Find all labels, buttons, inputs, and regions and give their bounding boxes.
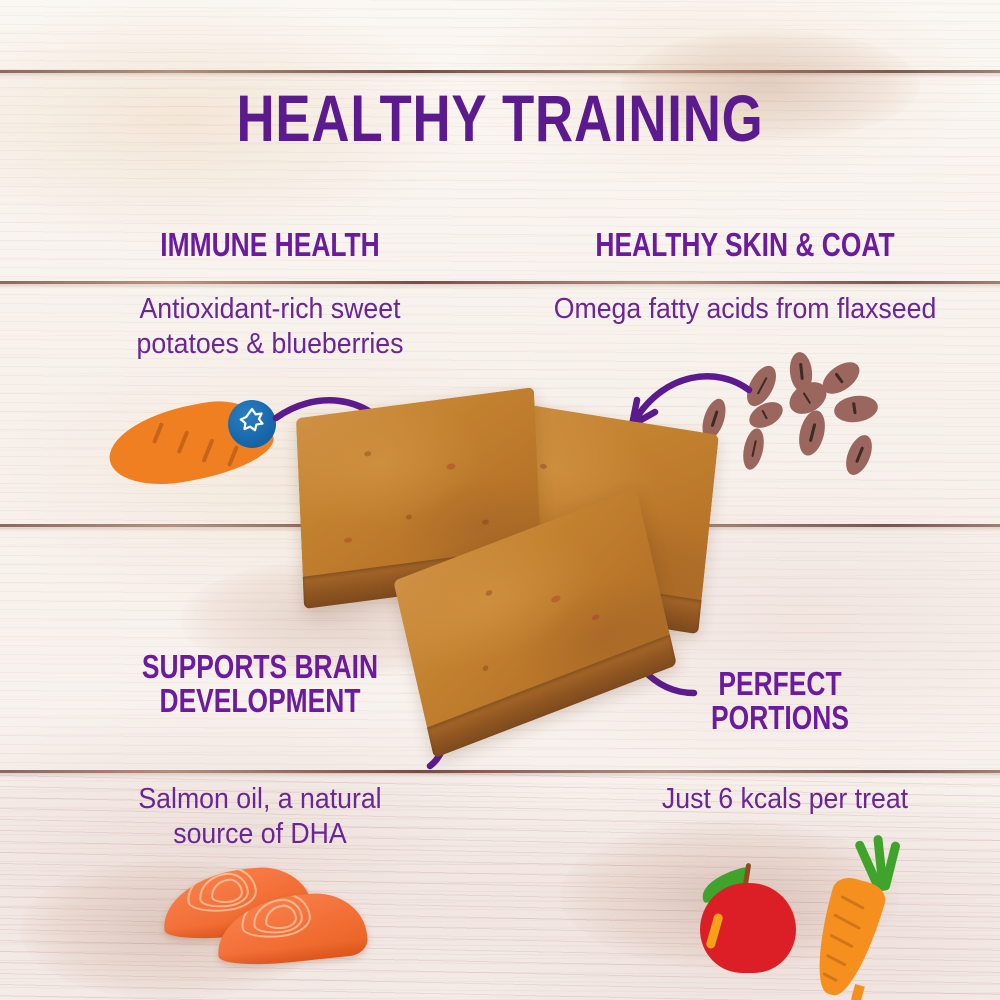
feature-heading-skin: HEALTHY SKIN & COAT <box>549 228 941 262</box>
salmon-fillet-icon <box>162 870 382 975</box>
feature-body-brain: Salmon oil, a natural source of DHA <box>44 782 476 853</box>
flaxseed <box>841 431 877 478</box>
apple-icon <box>692 855 804 975</box>
feature-heading-immune: IMMUNE HEALTH <box>86 228 454 262</box>
plank-seam-2 <box>0 281 1000 284</box>
feature-body-skin: Omega fatty acids from flaxseed <box>515 292 975 327</box>
feature-body-portions: Just 6 kcals per treat <box>587 782 983 817</box>
feature-body-brain-line2: source of DHA <box>44 817 476 852</box>
feature-body-brain-line1: Salmon oil, a natural <box>44 782 476 817</box>
feature-heading-brain-line1: SUPPORTS BRAIN <box>76 650 444 684</box>
page-title: HEALTHY TRAINING <box>100 86 900 151</box>
blueberry-icon <box>228 400 276 448</box>
feature-body-immune-line2: potatoes & blueberries <box>49 327 491 362</box>
feature-body-immune-line1: Antioxidant-rich sweet <box>49 292 491 327</box>
feature-heading-portions-line2: PORTIONS <box>648 701 912 735</box>
feature-heading-portions-line1: PERFECT <box>648 667 912 701</box>
feature-body-immune: Antioxidant-rich sweet potatoes & bluebe… <box>49 292 491 363</box>
blueberry-crown-star-icon <box>228 400 276 448</box>
plank-seam-4 <box>0 770 1000 773</box>
flaxseed <box>832 393 879 425</box>
feature-heading-portions: PERFECT PORTIONS <box>648 667 912 734</box>
carrot-icon <box>822 845 932 985</box>
feature-body-skin-line1: Omega fatty acids from flaxseed <box>515 292 975 327</box>
flaxseed <box>795 408 829 458</box>
feature-body-portions-line1: Just 6 kcals per treat <box>587 782 983 817</box>
feature-heading-brain: SUPPORTS BRAIN DEVELOPMENT <box>76 650 444 717</box>
feature-heading-brain-line2: DEVELOPMENT <box>76 684 444 718</box>
product-feature-poster: HEALTHY TRAINING IMMUNE HEALTH Antioxida… <box>0 0 1000 1000</box>
